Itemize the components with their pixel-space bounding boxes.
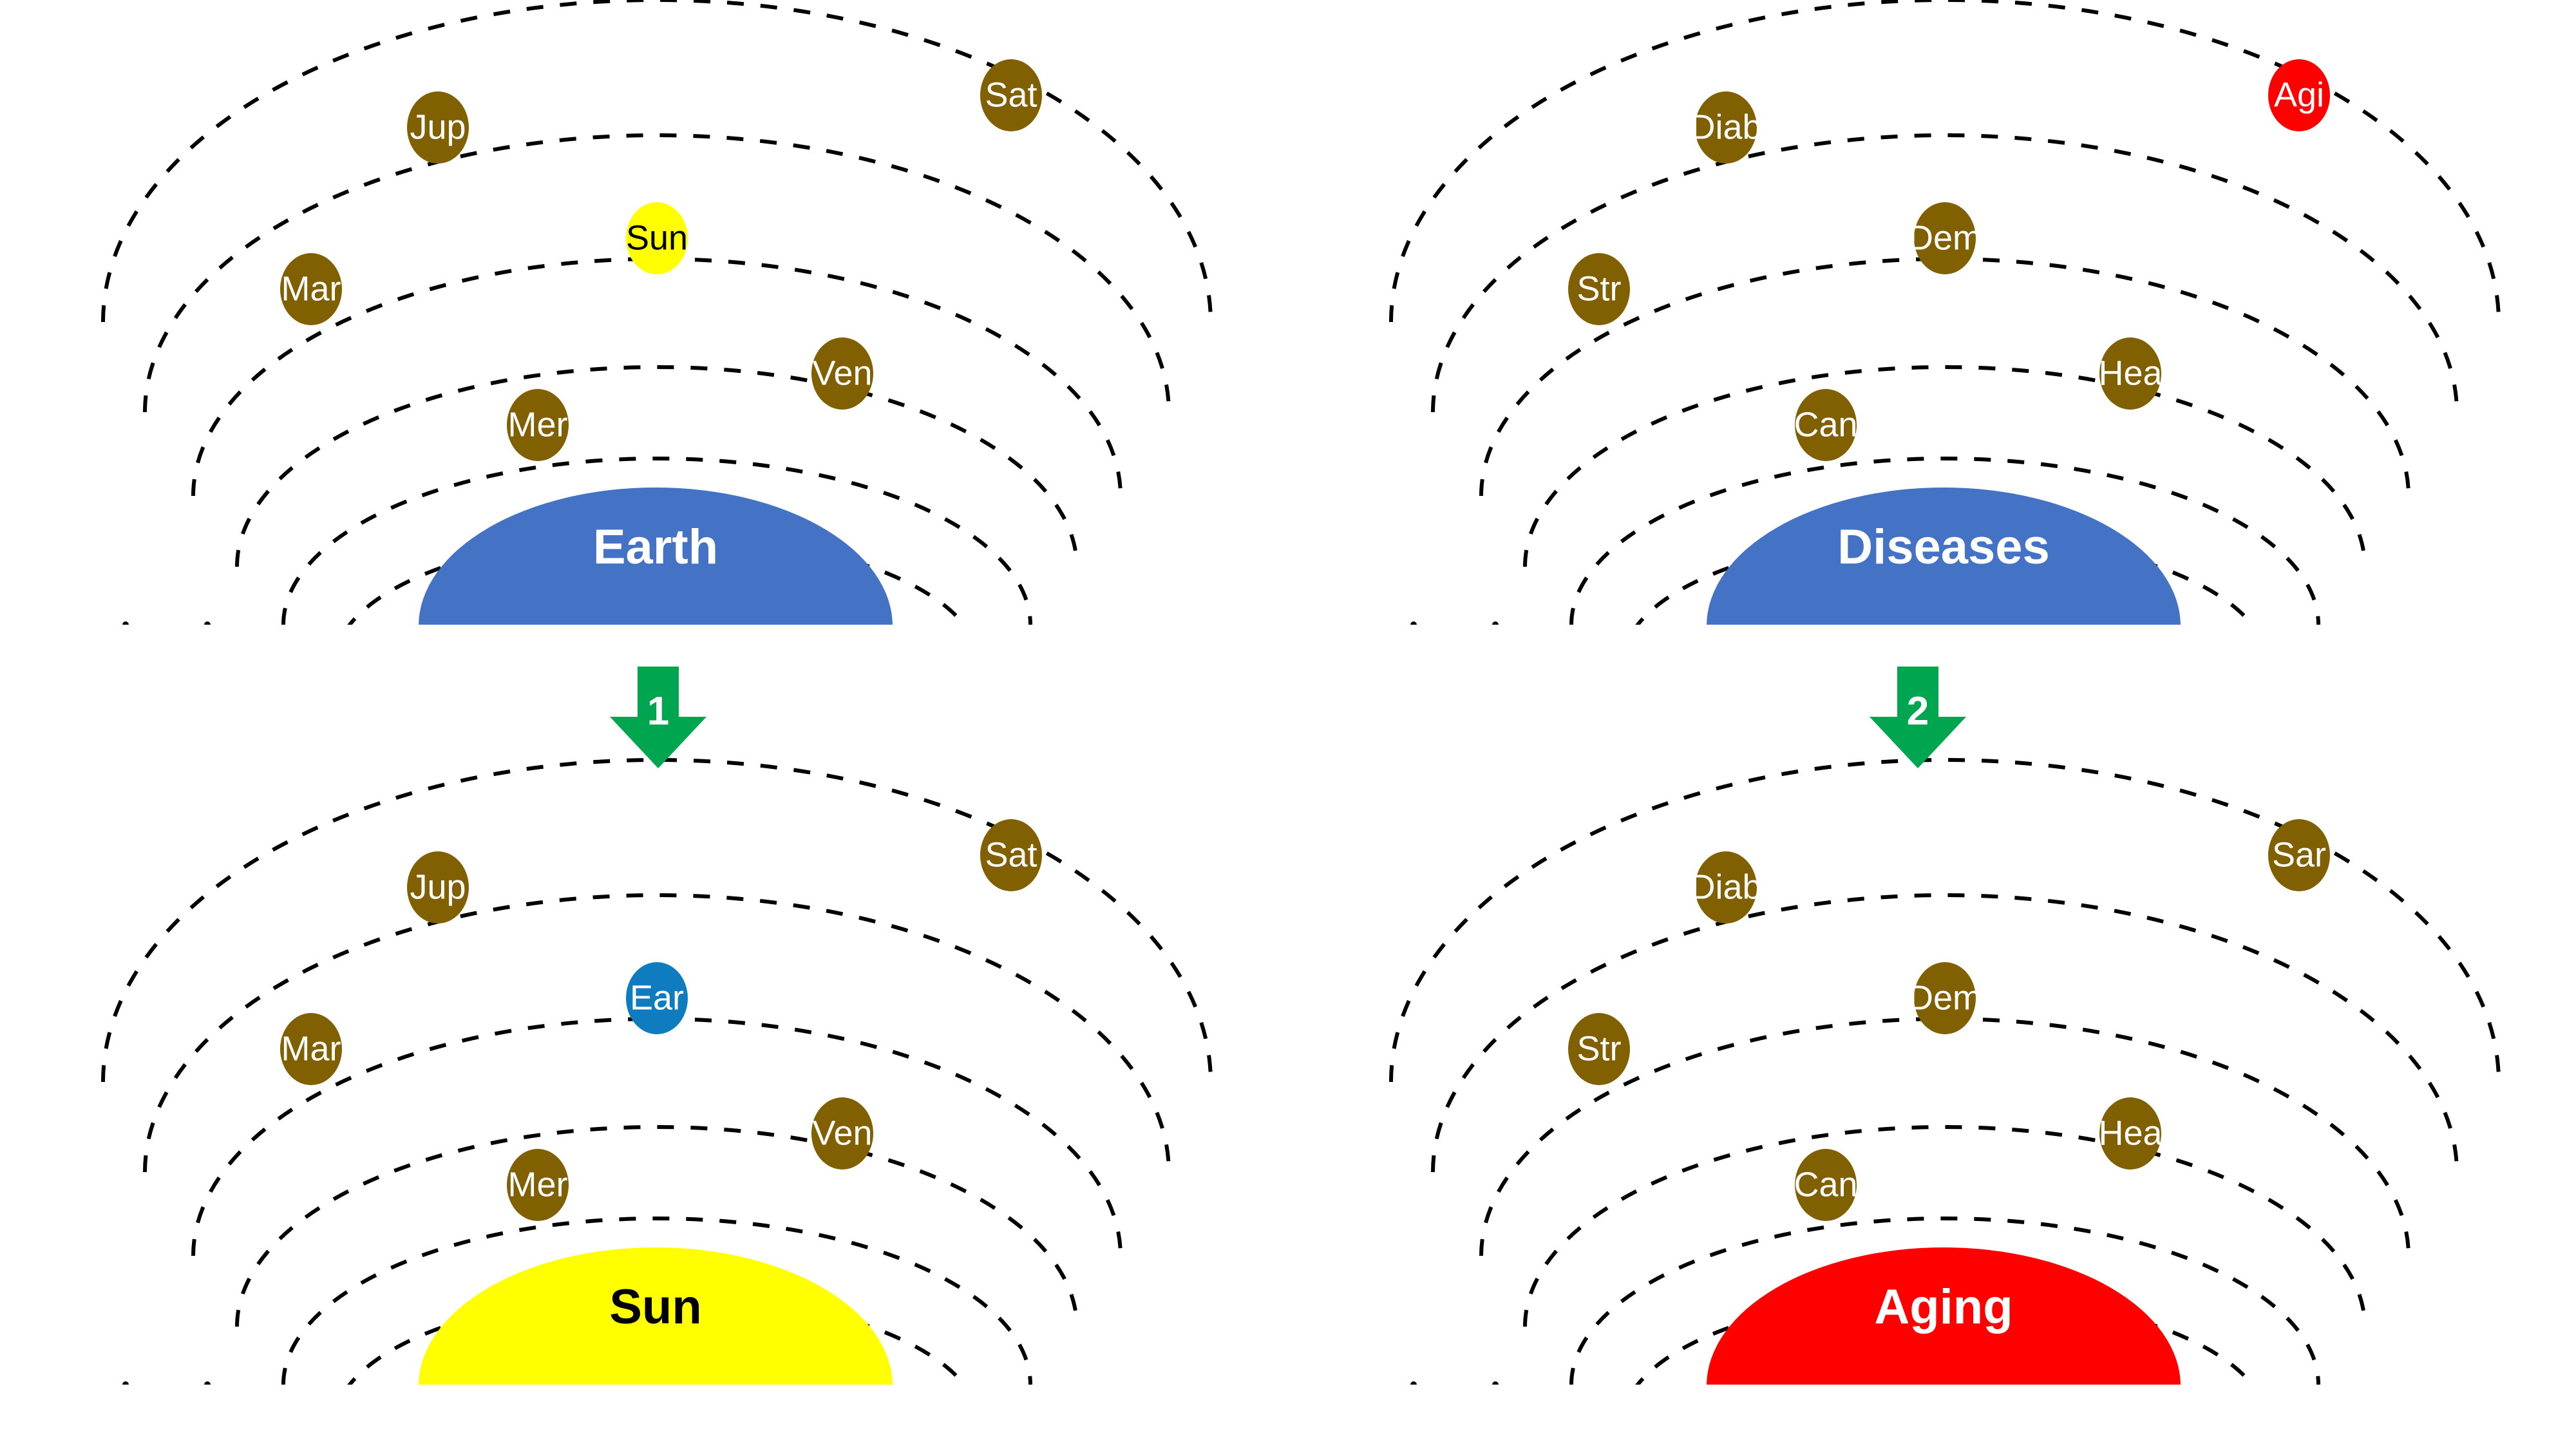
body-label: Ven xyxy=(812,1113,872,1152)
body-label: Dem xyxy=(1908,218,1982,257)
body-label: Str xyxy=(1577,269,1621,308)
body-marker-sun: Sun xyxy=(626,202,688,274)
body-marker-diab: Diab xyxy=(1690,91,1761,164)
body-label: Jup xyxy=(410,108,466,146)
body-marker-agi: Agi xyxy=(2268,59,2330,131)
center-dome-label: Aging xyxy=(1874,1280,2012,1334)
baseline-tick-right xyxy=(204,621,211,625)
body-label: Jup xyxy=(410,867,466,906)
body-label: Sat xyxy=(985,75,1037,114)
center-dome-label: Sun xyxy=(609,1280,702,1334)
body-label: Ear xyxy=(630,978,684,1017)
body-marker-jup: Jup xyxy=(407,851,469,923)
baseline-tick-right xyxy=(204,1381,211,1385)
body-label: Mar xyxy=(281,269,341,308)
panel-disease-centric: Diseases DiabAgiStrDemHeaCan xyxy=(1288,0,2576,625)
body-marker-can: Can xyxy=(1794,389,1857,461)
body-marker-mar: Mar xyxy=(280,1013,342,1085)
body-markers: DiabAgiStrDemHeaCan xyxy=(1568,59,2330,461)
body-label: Sat xyxy=(985,835,1037,874)
body-label: Diab xyxy=(1690,867,1761,906)
body-marker-diab: Diab xyxy=(1690,851,1761,923)
body-label: Ven xyxy=(812,354,872,392)
body-marker-hea: Hea xyxy=(2098,1097,2163,1170)
body-marker-str: Str xyxy=(1568,1013,1630,1085)
body-label: Mer xyxy=(508,405,568,444)
body-markers: DiabSarStrDemHeaCan xyxy=(1568,819,2330,1221)
body-marker-ven: Ven xyxy=(811,337,873,410)
baseline-tick-left xyxy=(1410,621,1417,625)
diagram-canvas: Earth JupSatMarSunVenMer Diseases DiabAg… xyxy=(0,0,2576,1449)
baseline-tick-left xyxy=(122,1381,129,1385)
baseline-tick-right xyxy=(1492,621,1499,625)
body-marker-hea: Hea xyxy=(2098,337,2163,410)
panel-geocentric-earth: Earth JupSatMarSunVenMer xyxy=(0,0,1288,625)
body-marker-jup: Jup xyxy=(407,91,469,164)
body-marker-can: Can xyxy=(1794,1149,1857,1221)
panel-aging-centric: Aging DiabSarStrDemHeaCan xyxy=(1288,741,2576,1385)
body-marker-dem: Dem xyxy=(1908,202,1982,274)
body-marker-sar: Sar xyxy=(2268,819,2330,891)
body-label: Mer xyxy=(508,1165,568,1204)
baseline-tick-left xyxy=(122,621,129,625)
body-label: Dem xyxy=(1908,978,1982,1017)
body-label: Agi xyxy=(2274,75,2324,114)
body-label: Sun xyxy=(626,218,688,257)
down-arrow-shape xyxy=(610,667,706,768)
body-markers: JupSatMarSunVenMer xyxy=(280,59,1042,461)
body-label: Sar xyxy=(2272,835,2326,874)
body-label: Diab xyxy=(1690,108,1761,146)
body-marker-mer: Mer xyxy=(507,389,569,461)
body-label: Hea xyxy=(2098,354,2163,392)
body-label: Can xyxy=(1794,405,1857,444)
panel-heliocentric-sun: Sun JupSatMarEarVenMer xyxy=(0,741,1288,1385)
baseline-tick-left xyxy=(1410,1381,1417,1385)
body-marker-str: Str xyxy=(1568,253,1630,325)
center-dome-label: Earth xyxy=(593,520,718,574)
body-marker-sat: Sat xyxy=(980,819,1042,891)
body-label: Str xyxy=(1577,1029,1621,1068)
body-markers: JupSatMarEarVenMer xyxy=(280,819,1042,1221)
body-marker-sat: Sat xyxy=(980,59,1042,131)
body-marker-mar: Mar xyxy=(280,253,342,325)
body-label: Mar xyxy=(281,1029,341,1068)
body-marker-ven: Ven xyxy=(811,1097,873,1170)
body-label: Can xyxy=(1794,1165,1857,1204)
body-marker-dem: Dem xyxy=(1908,962,1982,1034)
body-marker-mer: Mer xyxy=(507,1149,569,1221)
body-marker-ear: Ear xyxy=(626,962,688,1034)
down-arrow-shape xyxy=(1870,667,1966,768)
transition-arrow-1: 1 xyxy=(600,667,716,770)
baseline-tick-right xyxy=(1492,1381,1499,1385)
transition-arrow-2: 2 xyxy=(1860,667,1976,770)
body-label: Hea xyxy=(2098,1113,2163,1152)
center-dome-label: Diseases xyxy=(1837,520,2050,574)
